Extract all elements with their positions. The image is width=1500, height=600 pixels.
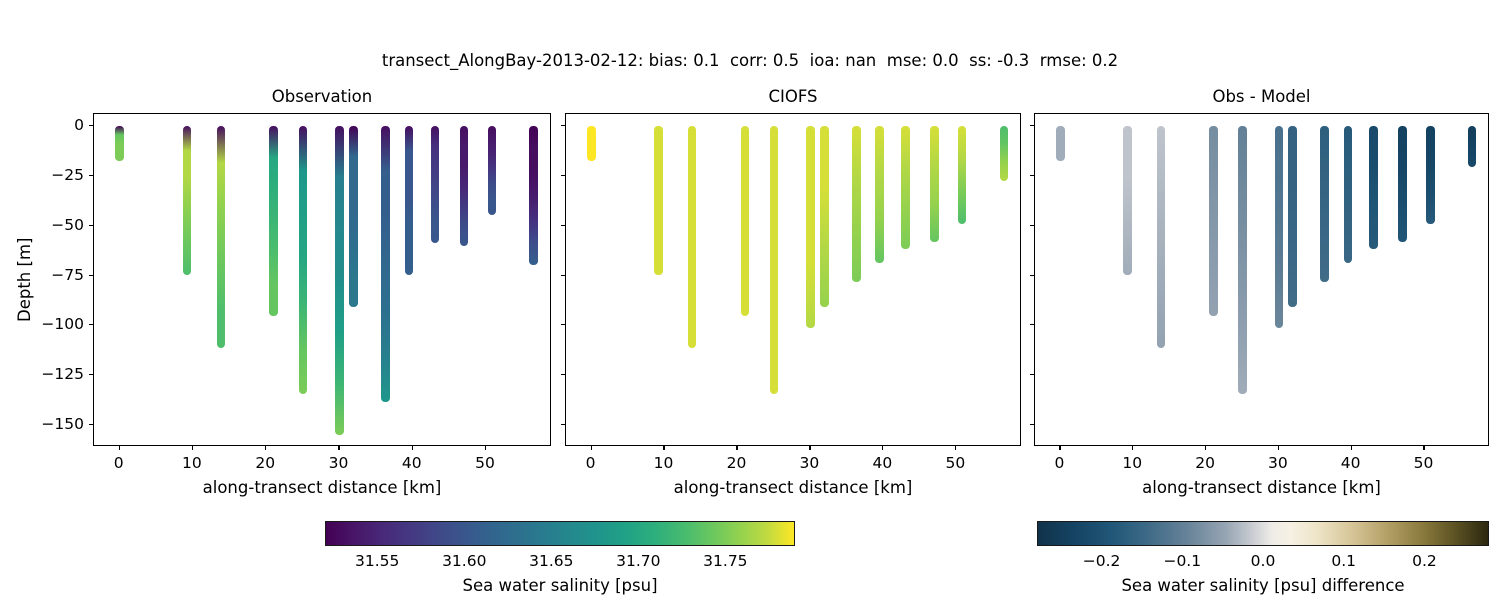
y-tick-label: 0: [74, 116, 84, 134]
colorbar-tick-label: 0.2: [1412, 552, 1437, 570]
cast-profile: [405, 126, 414, 275]
colorbar-tick-label: −0.1: [1163, 552, 1201, 570]
cast-profile: [488, 126, 497, 215]
x-tick-mark: [1351, 446, 1352, 450]
y-tick-label: −150: [41, 415, 84, 433]
axes-obs-model: [1034, 113, 1489, 446]
cast-profile: [654, 126, 663, 275]
cast-profile: [1000, 126, 1009, 181]
x-tick-label: 40: [1341, 454, 1361, 472]
cast-profile: [183, 126, 192, 275]
cast-profile: [529, 126, 538, 265]
x-tick-label: 20: [255, 454, 275, 472]
cast-profile: [852, 126, 861, 283]
colorbar-salinity: 31.5531.6031.6531.7031.75Sea water salin…: [325, 521, 795, 546]
x-tick-mark: [663, 446, 664, 450]
cast-profile: [688, 126, 697, 348]
cast-profile: [1209, 126, 1218, 316]
colorbar-tick-label: 31.60: [442, 552, 486, 570]
cast-profile: [299, 126, 308, 394]
x-tick-mark: [265, 446, 266, 450]
y-tick-mark: [89, 225, 93, 226]
colorbar-gradient-salinity: [325, 521, 795, 546]
x-tick-label: 0: [114, 454, 124, 472]
x-tick-label: 0: [1055, 454, 1065, 472]
cast-profile: [930, 126, 939, 242]
cast-profile: [381, 126, 390, 402]
x-tick-mark: [809, 446, 810, 450]
x-tick-mark: [882, 446, 883, 450]
cast-profile: [806, 126, 815, 328]
x-tick-label: 50: [475, 454, 495, 472]
y-tick-mark: [1030, 374, 1034, 375]
x-tick-label: 20: [727, 454, 747, 472]
y-tick-label: −25: [51, 166, 84, 184]
y-tick-mark: [561, 424, 565, 425]
x-tick-mark: [119, 446, 120, 450]
cast-profile: [431, 126, 440, 243]
cast-profile: [349, 126, 358, 307]
cast-profile: [1157, 126, 1166, 348]
cast-profile: [875, 126, 884, 263]
cast-profile: [1288, 126, 1297, 307]
y-tick-mark: [1030, 275, 1034, 276]
panel-title-obs-model: Obs - Model: [1034, 87, 1489, 106]
y-tick-mark: [89, 324, 93, 325]
cast-profile: [269, 126, 278, 316]
cast-profile: [115, 126, 124, 161]
cast-profile: [1238, 126, 1247, 394]
y-tick-label: −50: [51, 216, 84, 234]
x-tick-mark: [1132, 446, 1133, 450]
y-tick-mark: [1030, 125, 1034, 126]
x-axis-label: along-transect distance [km]: [93, 478, 551, 497]
y-tick-mark: [561, 175, 565, 176]
x-tick-label: 30: [329, 454, 349, 472]
panel-title-ciofs: CIOFS: [565, 87, 1021, 106]
x-tick-label: 0: [586, 454, 596, 472]
panel-title-observation: Observation: [93, 87, 551, 106]
figure-canvas: transect_AlongBay-2013-02-12: bias: 0.1 …: [0, 0, 1500, 600]
y-tick-mark: [1030, 175, 1034, 176]
x-tick-label: 10: [1122, 454, 1142, 472]
colorbar-tick-label: 31.55: [355, 552, 399, 570]
x-tick-mark: [1205, 446, 1206, 450]
colorbar-tick-label: 31.65: [529, 552, 573, 570]
cast-profile: [741, 126, 750, 316]
y-tick-mark: [89, 275, 93, 276]
colorbar-tick-label: 31.75: [703, 552, 747, 570]
colorbar-tick-label: 31.70: [616, 552, 660, 570]
x-tick-label: 40: [402, 454, 422, 472]
colorbar-tick-label: 0.0: [1251, 552, 1276, 570]
cast-profile: [1320, 126, 1329, 283]
x-tick-mark: [1059, 446, 1060, 450]
y-tick-label: −100: [41, 315, 84, 333]
y-tick-mark: [89, 374, 93, 375]
x-tick-mark: [485, 446, 486, 450]
x-tick-label: 20: [1195, 454, 1215, 472]
y-tick-mark: [1030, 424, 1034, 425]
x-tick-mark: [338, 446, 339, 450]
cast-profile: [1369, 126, 1378, 249]
cast-profile: [1275, 126, 1284, 328]
cast-profile: [958, 126, 967, 224]
panel-observation: Observation010203040500−25−50−75−100−125…: [93, 113, 551, 446]
x-tick-mark: [591, 446, 592, 450]
y-tick-mark: [89, 125, 93, 126]
panel-ciofs: CIOFS01020304050along-transect distance …: [565, 113, 1021, 446]
x-axis-label: along-transect distance [km]: [565, 478, 1021, 497]
x-tick-label: 10: [182, 454, 202, 472]
x-tick-label: 10: [654, 454, 674, 472]
cast-profile: [820, 126, 829, 307]
colorbar-label-salinity: Sea water salinity [psu]: [325, 576, 795, 595]
x-tick-label: 40: [873, 454, 893, 472]
y-tick-mark: [89, 175, 93, 176]
colorbar-tick-label: −0.2: [1083, 552, 1121, 570]
suptitle-line-1: transect_AlongBay-2013-02-12: bias: 0.1 …: [0, 50, 1500, 72]
colorbar-difference: −0.2−0.10.00.10.2Sea water salinity [psu…: [1037, 521, 1489, 546]
cast-profile: [901, 126, 910, 249]
cast-profile: [587, 126, 596, 161]
y-tick-mark: [1030, 324, 1034, 325]
cast-profile: [1123, 126, 1132, 275]
y-tick-mark: [561, 125, 565, 126]
x-tick-mark: [1423, 446, 1424, 450]
cast-profile: [335, 126, 344, 435]
colorbar-tick-label: 0.1: [1331, 552, 1356, 570]
x-tick-mark: [1278, 446, 1279, 450]
cast-profile: [1344, 126, 1353, 263]
x-tick-label: 50: [945, 454, 965, 472]
cast-profile: [460, 126, 469, 246]
y-tick-mark: [561, 374, 565, 375]
colorbar-gradient-difference: [1037, 521, 1489, 546]
x-tick-label: 30: [800, 454, 820, 472]
y-tick-label: −75: [51, 266, 84, 284]
axes-ciofs: [565, 113, 1021, 446]
x-tick-mark: [955, 446, 956, 450]
y-tick-mark: [1030, 225, 1034, 226]
y-tick-mark: [561, 275, 565, 276]
x-tick-mark: [736, 446, 737, 450]
y-tick-mark: [561, 225, 565, 226]
cast-profile: [770, 126, 779, 394]
y-axis-label: Depth [m]: [15, 237, 34, 321]
x-tick-label: 30: [1268, 454, 1288, 472]
colorbar-label-difference: Sea water salinity [psu] difference: [1037, 576, 1489, 595]
cast-profile: [217, 126, 226, 348]
y-tick-mark: [89, 424, 93, 425]
x-tick-label: 50: [1414, 454, 1434, 472]
cast-profile: [1398, 126, 1407, 242]
cast-profile: [1426, 126, 1435, 224]
cast-profile: [1056, 126, 1065, 161]
x-tick-mark: [192, 446, 193, 450]
panel-obs-model: Obs - Model01020304050along-transect dis…: [1034, 113, 1489, 446]
y-tick-label: −125: [41, 365, 84, 383]
x-tick-mark: [412, 446, 413, 450]
x-axis-label: along-transect distance [km]: [1034, 478, 1489, 497]
axes-observation: [93, 113, 551, 446]
y-tick-mark: [561, 324, 565, 325]
cast-profile: [1468, 126, 1477, 167]
